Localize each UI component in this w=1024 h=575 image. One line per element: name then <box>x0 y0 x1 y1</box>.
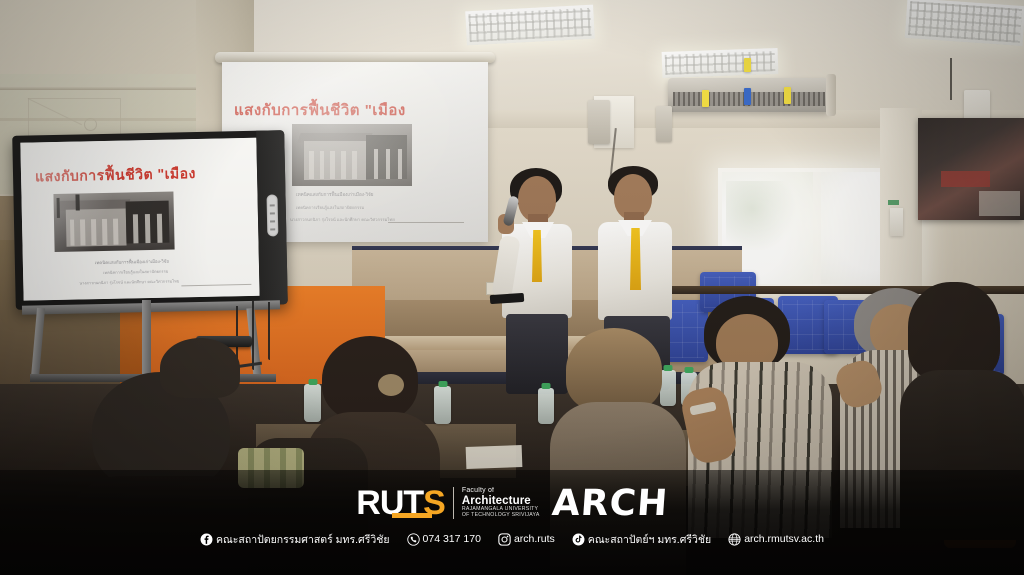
ceiling-ribbon <box>744 58 751 72</box>
tv-bezel-right <box>256 130 288 305</box>
contact-phone[interactable]: 074 317 170 <box>407 533 481 546</box>
faculty-name-block: Faculty of Architecture RAJAMANGALA UNIV… <box>462 487 540 518</box>
exit-sign <box>888 200 899 205</box>
tiktok-icon <box>572 533 585 546</box>
slide-subtitle-2: เทคนิคการเรียนรู้แสงในสถาปัตยกรรม <box>296 204 364 211</box>
wall-speaker <box>588 100 610 144</box>
phone-icon <box>407 533 420 546</box>
wall-speaker-2 <box>656 106 672 142</box>
wall-tv-display[interactable]: แสงกับการฟื้นชีวิต "เมือง เทคนิ <box>12 130 288 310</box>
ceiling-light-1 <box>465 5 595 46</box>
ac-pipe <box>826 74 836 116</box>
wall-mounted-display <box>918 118 1024 220</box>
ceiling-light-2 <box>662 48 779 78</box>
arch-wordmark: ARCH <box>550 483 669 524</box>
university-line-2: OF TECHNOLOGY SRIVIJAYA <box>462 513 540 519</box>
presenter-right-tie <box>630 228 641 290</box>
slide-title-tv: แสงกับการฟื้นชีวิต "เมือง <box>35 163 196 188</box>
instagram-text: arch.ruts <box>514 533 555 545</box>
water-bottle-2 <box>434 386 451 424</box>
slide-subtitle-3: นางสาวกนกนิภา รุ่งโรจน์ และนักศึกษา คณะว… <box>290 216 395 223</box>
contact-website[interactable]: arch.rmutsv.ac.th <box>728 533 824 546</box>
brand-logo-row: RUTS Faculty of Architecture RAJAMANGALA… <box>0 482 1024 524</box>
website-text: arch.rmutsv.ac.th <box>744 533 824 545</box>
facebook-icon <box>200 533 213 546</box>
presenter-left-tie <box>532 230 542 282</box>
instagram-icon <box>498 533 511 546</box>
tv-screen: แสงกับการฟื้นชีวิต "เมือง เทคนิ <box>20 138 259 301</box>
slide-subtitle-1: เทคนิคแสงกับการฟื้นเมืองเก่าเมือง-วิจัย <box>296 192 373 199</box>
tv-cable-2 <box>252 300 254 370</box>
ruts-wordmark: RUTS <box>356 486 445 520</box>
contact-facebook[interactable]: คณะสถาปัตยกรรมศาสตร์ มทร.ศรีวิชัย <box>200 531 390 548</box>
footer-banner: RUTS Faculty of Architecture RAJAMANGALA… <box>0 470 1024 575</box>
air-conditioner <box>668 78 830 112</box>
facebook-text: คณะสถาปัตยกรรมศาสตร์ มทร.ศรีวิชัย <box>216 531 390 548</box>
slide-photo-projected <box>292 124 412 186</box>
faculty-of-label: Faculty of <box>462 487 540 495</box>
tv-control-strip[interactable] <box>266 194 278 236</box>
ruts-underline-accent <box>392 513 432 518</box>
photo-canvas: แสงกับการฟื้นชีวิต "เมือง เทคนิคแสงกับกา… <box>0 0 1024 575</box>
paper-document-1 <box>466 445 523 469</box>
wall-rail-lower <box>0 118 196 121</box>
contact-tiktok[interactable]: คณะสถาปัตย์ฯ มทร.ศรีวิชัย <box>572 531 711 548</box>
contact-row: คณะสถาปัตยกรรมศาสตร์ มทร.ศรีวิชัย 074 31… <box>0 528 1024 550</box>
wall-rail <box>0 86 200 90</box>
slide-subtitle-tv-3: นางสาวกนกนิภา รุ่งโรจน์ และนักศึกษา คณะว… <box>79 277 179 286</box>
water-bottle-1 <box>304 384 321 422</box>
slide-subtitle-tv-2: เทคนิคการเรียนรู้แสงในสถาปัตยกรรม <box>103 268 168 276</box>
contact-instagram[interactable]: arch.ruts <box>498 533 555 546</box>
water-bottle-3 <box>538 388 554 424</box>
slide-photo-tv <box>53 192 174 253</box>
window-foliage <box>726 181 802 250</box>
wall-notice <box>890 208 903 236</box>
slide-subtitle-tv-1: เทคนิคแสงกับการฟื้นเมืองเก่าเมือง-วิจัย <box>95 258 169 267</box>
tv-stand-post <box>142 300 151 380</box>
wall-cable <box>950 58 952 100</box>
tv-cable-3 <box>268 302 270 360</box>
water-bottle-4 <box>660 370 676 406</box>
presenter-left-trousers <box>506 314 568 394</box>
slide-title-projected: แสงกับการฟื้นชีวิต "เมือง <box>234 98 406 122</box>
tiktok-text: คณะสถาปัตย์ฯ มทร.ศรีวิชัย <box>588 531 711 548</box>
ac-ribbon-3 <box>784 87 791 104</box>
logo-divider <box>453 487 454 519</box>
phone-text: 074 317 170 <box>423 533 481 545</box>
ac-ribbon-2 <box>744 88 751 105</box>
window-mullion <box>813 172 821 284</box>
ac-ribbon-1 <box>702 90 709 107</box>
hair-clip <box>378 374 404 396</box>
globe-icon <box>728 533 741 546</box>
